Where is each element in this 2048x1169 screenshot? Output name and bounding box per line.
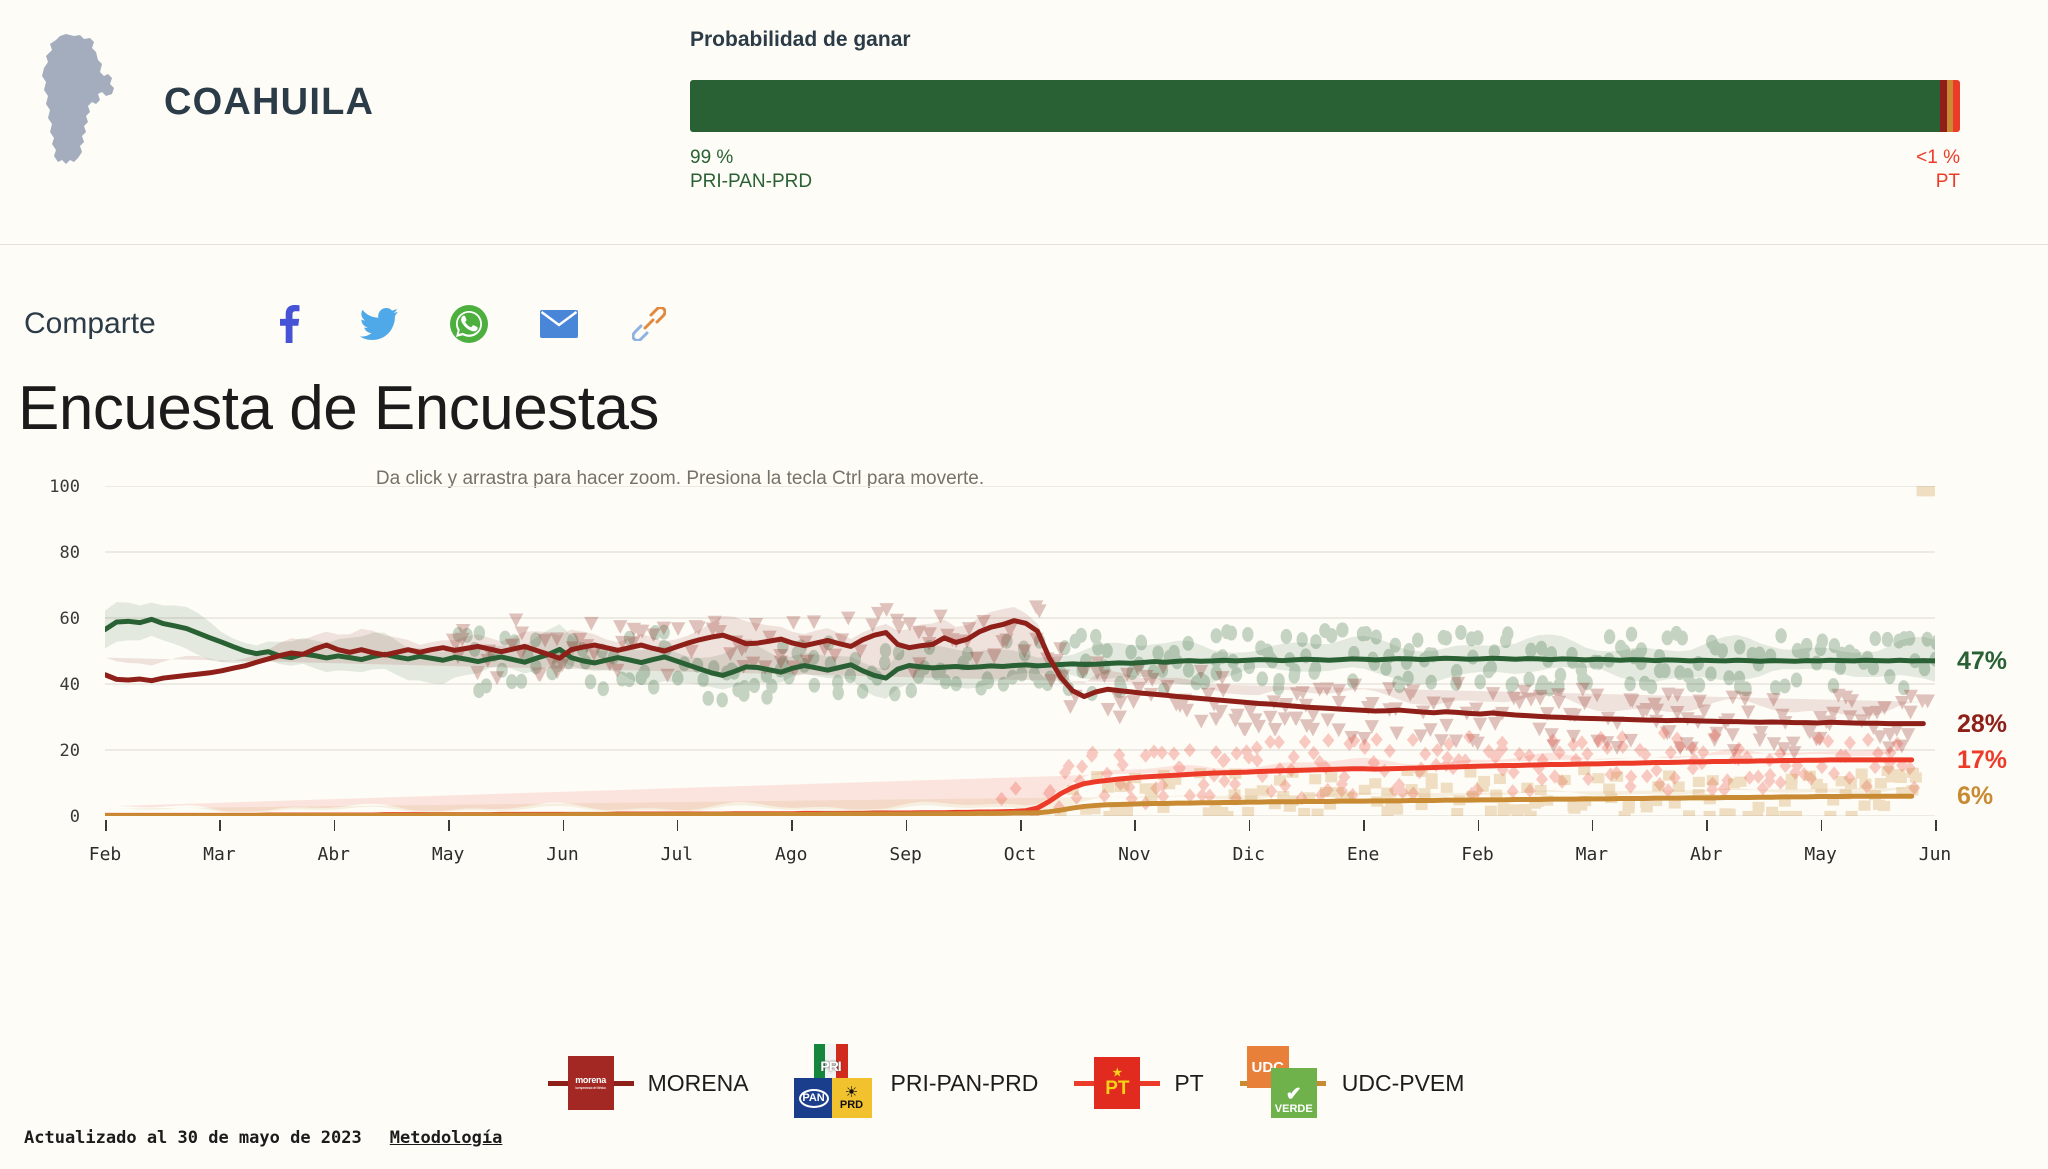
- x-axis-tick-2: Abr: [317, 844, 350, 865]
- legend-item-morena[interactable]: morenala esperanza de México MORENA: [548, 1040, 785, 1126]
- y-axis-tick-40: 40: [20, 675, 80, 695]
- x-axis-tick-mark-15: [1821, 820, 1823, 831]
- state-identity: COAHUILA: [0, 0, 690, 172]
- state-header: COAHUILA Probabilidad de ganar 99 % PRI-…: [0, 0, 2048, 245]
- x-axis-tick-15: May: [1804, 844, 1837, 865]
- probability-label-leader: 99 % PRI-PAN-PRD: [690, 146, 812, 194]
- coahuila-state-outline-icon: [28, 32, 140, 172]
- legend-label-udc-pvem: UDC-PVEM: [1342, 1070, 1465, 1097]
- chart-plot-area[interactable]: [105, 486, 1935, 816]
- probability-leader-party: PRI-PAN-PRD: [690, 170, 812, 194]
- chart-container[interactable]: Da click y arrastra para hacer zoom. Pre…: [0, 468, 2048, 1088]
- probability-trailer-party: PT: [1916, 170, 1960, 194]
- y-axis-tick-60: 60: [20, 609, 80, 629]
- x-axis-tick-mark-5: [677, 820, 679, 831]
- y-axis-tick-20: 20: [20, 741, 80, 761]
- legend-label-pri-pan-prd: PRI-PAN-PRD: [891, 1070, 1039, 1097]
- morena-logo-icon: morenala esperanza de México: [548, 1040, 634, 1126]
- x-axis-tick-mark-6: [791, 820, 793, 831]
- x-axis-tick-mark-10: [1249, 820, 1251, 831]
- x-axis-tick-mark-4: [563, 820, 565, 831]
- x-axis-tick-13: Mar: [1576, 844, 1609, 865]
- share-bar: Comparte: [0, 245, 2048, 355]
- end-label-morena: 28%: [1957, 710, 2007, 739]
- y-axis-tick-100: 100: [20, 477, 80, 497]
- x-axis-tick-16: Jun: [1919, 844, 1952, 865]
- x-axis-tick-mark-12: [1478, 820, 1480, 831]
- x-axis-tick-mark-11: [1363, 820, 1365, 831]
- x-axis-tick-5: Jul: [661, 844, 694, 865]
- page-state-name: COAHUILA: [164, 81, 374, 124]
- x-axis-tick-0: Feb: [89, 844, 122, 865]
- footer: Actualizado al 30 de mayo de 2023Metodol…: [24, 1128, 502, 1148]
- probability-title: Probabilidad de ganar: [690, 28, 1980, 52]
- link-icon[interactable]: [629, 304, 669, 344]
- probability-segment-pri-pan-prd[interactable]: [690, 80, 1940, 132]
- x-axis-tick-9: Nov: [1118, 844, 1151, 865]
- x-axis-tick-mark-13: [1592, 820, 1594, 831]
- probability-segment-morena[interactable]: [1940, 80, 1947, 132]
- x-axis-tick-1: Mar: [203, 844, 236, 865]
- x-axis-tick-12: Feb: [1461, 844, 1494, 865]
- y-axis-tick-0: 0: [20, 807, 80, 827]
- x-axis-tick-8: Oct: [1004, 844, 1037, 865]
- legend-item-udc-pvem[interactable]: UDC ✔VERDE UDC-PVEM: [1240, 1040, 1501, 1126]
- x-axis-tick-14: Abr: [1690, 844, 1723, 865]
- legend-label-morena: MORENA: [648, 1070, 749, 1097]
- x-axis-tick-3: May: [432, 844, 465, 865]
- x-axis-tick-mark-9: [1134, 820, 1136, 831]
- x-axis-tick-mark-0: [105, 820, 107, 831]
- x-axis-tick-mark-16: [1935, 820, 1937, 831]
- x-axis-tick-7: Sep: [889, 844, 922, 865]
- email-icon[interactable]: [539, 304, 579, 344]
- probability-bar[interactable]: [690, 80, 1960, 132]
- poll-average-chart[interactable]: [105, 486, 1935, 816]
- y-axis-tick-80: 80: [20, 543, 80, 563]
- probability-labels: 99 % PRI-PAN-PRD <1 % PT: [690, 146, 1960, 194]
- x-axis-tick-mark-7: [906, 820, 908, 831]
- end-label-udc-pvem: 6%: [1957, 782, 1993, 811]
- legend-item-pri-pan-prd[interactable]: PRI PAN ☀PRD PRI-PAN-PRD: [785, 1040, 1075, 1126]
- probability-trailer-pct: <1 %: [1916, 146, 1960, 170]
- twitter-icon[interactable]: [359, 304, 399, 344]
- legend-item-pt[interactable]: ★PT PT: [1074, 1040, 1239, 1126]
- end-label-pri-pan-prd: 47%: [1957, 647, 2007, 676]
- probability-leader-pct: 99 %: [690, 146, 812, 170]
- whatsapp-icon[interactable]: [449, 304, 489, 344]
- facebook-icon[interactable]: [269, 304, 309, 344]
- x-axis-tick-mark-8: [1020, 820, 1022, 831]
- probability-label-trailer: <1 % PT: [1916, 146, 1960, 194]
- pri-pan-prd-logo-icon: PRI PAN ☀PRD: [785, 1040, 877, 1126]
- x-axis-tick-11: Ene: [1347, 844, 1380, 865]
- share-icon-list: [269, 304, 669, 344]
- x-axis-tick-6: Ago: [775, 844, 808, 865]
- methodology-link[interactable]: Metodología: [390, 1128, 503, 1148]
- end-label-pt: 17%: [1957, 746, 2007, 775]
- x-axis-tick-mark-1: [219, 820, 221, 831]
- chart-legend: morenala esperanza de México MORENA PRI …: [0, 1040, 2048, 1126]
- share-label: Comparte: [24, 307, 269, 341]
- x-axis-tick-4: Jun: [546, 844, 579, 865]
- probability-segment-pt[interactable]: [1953, 80, 1960, 132]
- page-title: Encuesta de Encuestas: [0, 373, 2048, 444]
- x-axis-tick-mark-3: [448, 820, 450, 831]
- probability-panel: Probabilidad de ganar 99 % PRI-PAN-PRD <…: [690, 0, 1980, 194]
- legend-label-pt: PT: [1174, 1070, 1203, 1097]
- x-axis-tick-mark-14: [1706, 820, 1708, 831]
- x-axis-tick-10: Dic: [1232, 844, 1265, 865]
- pt-logo-icon: ★PT: [1074, 1040, 1160, 1126]
- updated-text: Actualizado al 30 de mayo de 2023: [24, 1128, 362, 1148]
- x-axis-tick-mark-2: [334, 820, 336, 831]
- udc-pvem-logo-icon: UDC ✔VERDE: [1240, 1040, 1328, 1126]
